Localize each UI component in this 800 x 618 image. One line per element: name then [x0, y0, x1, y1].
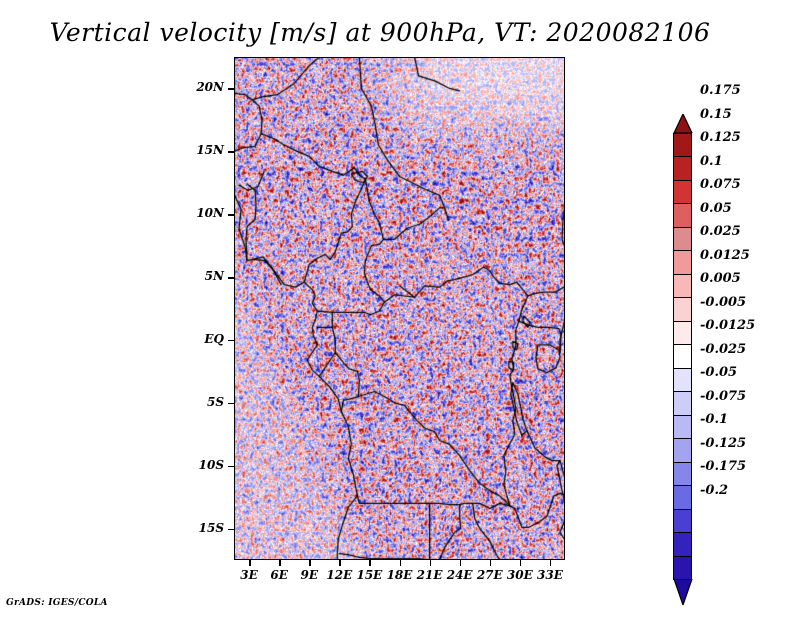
- colorbar-segment: [673, 415, 692, 440]
- y-tick-label: 10S: [176, 458, 224, 472]
- colorbar-tick-label: 0.125: [700, 130, 741, 145]
- colorbar-tick-label: -0.005: [700, 295, 746, 310]
- y-tick-mark: [228, 277, 234, 279]
- colorbar-segment: [673, 438, 692, 463]
- x-tick-mark: [339, 560, 341, 566]
- colorbar: [673, 57, 692, 560]
- y-tick-label: 20N: [176, 80, 224, 94]
- colorbar-tick-label: -0.125: [700, 436, 746, 451]
- colorbar-segment: [673, 274, 692, 299]
- colorbar-segment: [673, 321, 692, 346]
- x-tick-mark: [249, 560, 251, 566]
- colorbar-segment: [673, 532, 692, 557]
- y-tick-label: 15N: [176, 143, 224, 157]
- colorbar-segment: [673, 297, 692, 322]
- colorbar-tick-label: 0.175: [700, 83, 741, 98]
- map-plot-area: [234, 57, 565, 560]
- y-tick-mark: [228, 151, 234, 153]
- y-tick-label: 5N: [176, 269, 224, 283]
- y-tick-mark: [228, 466, 234, 468]
- colorbar-tick-label: -0.2: [700, 483, 728, 498]
- colorbar-segment: [673, 462, 692, 487]
- x-tick-mark: [490, 560, 492, 566]
- colorbar-segment: [673, 250, 692, 275]
- x-tick-mark: [520, 560, 522, 566]
- colorbar-over-arrow: [673, 114, 693, 133]
- x-tick-mark: [430, 560, 432, 566]
- colorbar-tick-label: -0.025: [700, 342, 746, 357]
- x-tick-mark: [279, 560, 281, 566]
- x-tick-mark: [309, 560, 311, 566]
- colorbar-segment: [673, 556, 692, 581]
- y-tick-label: EQ: [176, 332, 224, 346]
- colorbar-segment: [673, 344, 692, 369]
- colorbar-segment: [673, 133, 692, 158]
- x-tick-mark: [460, 560, 462, 566]
- colorbar-segment: [673, 180, 692, 205]
- colorbar-tick-label: 0.1: [700, 154, 723, 169]
- colorbar-tick-label: 0.075: [700, 177, 741, 192]
- x-tick-mark: [550, 560, 552, 566]
- colorbar-tick-label: 0.15: [700, 107, 732, 122]
- chart-title: Vertical velocity [m/s] at 900hPa, VT: 2…: [0, 18, 760, 47]
- colorbar-tick-label: 0.005: [700, 271, 741, 286]
- y-tick-label: 15S: [176, 521, 224, 535]
- x-tick-label: 33E: [530, 568, 570, 582]
- colorbar-segment: [673, 391, 692, 416]
- colorbar-segment: [673, 368, 692, 393]
- chart-page: Vertical velocity [m/s] at 900hPa, VT: 2…: [0, 0, 800, 618]
- colorbar-tick-label: -0.05: [700, 365, 737, 380]
- colorbar-under-arrow: [673, 579, 693, 605]
- y-tick-mark: [228, 88, 234, 90]
- colorbar-tick-label: -0.075: [700, 389, 746, 404]
- y-tick-label: 5S: [176, 395, 224, 409]
- colorbar-segment: [673, 203, 692, 228]
- colorbar-segment: [673, 485, 692, 510]
- y-tick-mark: [228, 214, 234, 216]
- colorbar-tick-label: 0.0125: [700, 248, 750, 263]
- footer-credit: GrADS: IGES/COLA: [6, 598, 108, 608]
- country-borders-overlay: [234, 57, 565, 560]
- colorbar-tick-label: -0.175: [700, 459, 746, 474]
- y-tick-mark: [228, 340, 234, 342]
- y-tick-mark: [228, 529, 234, 531]
- x-tick-mark: [369, 560, 371, 566]
- colorbar-segment: [673, 509, 692, 534]
- x-tick-mark: [400, 560, 402, 566]
- colorbar-tick-label: -0.1: [700, 412, 728, 427]
- colorbar-tick-label: 0.025: [700, 224, 741, 239]
- colorbar-segment: [673, 227, 692, 252]
- y-tick-mark: [228, 403, 234, 405]
- colorbar-segment: [673, 156, 692, 181]
- colorbar-tick-label: 0.05: [700, 201, 732, 216]
- colorbar-tick-label: -0.0125: [700, 318, 755, 333]
- y-tick-label: 10N: [176, 206, 224, 220]
